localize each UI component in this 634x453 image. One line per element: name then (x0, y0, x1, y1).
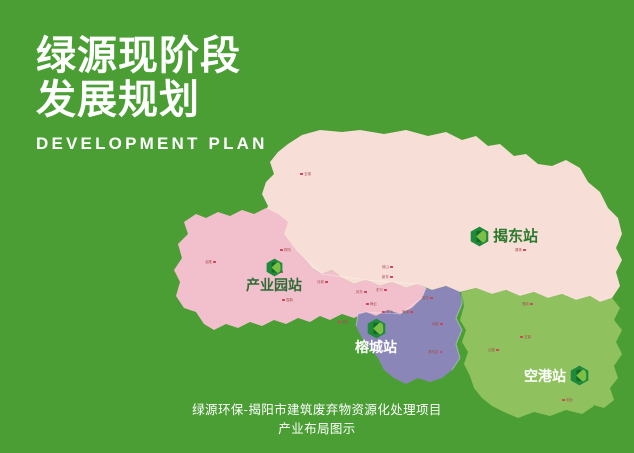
city-dot-label: 龙尾 (205, 260, 212, 264)
city-dot-label: 梅东 (342, 320, 349, 324)
city-dot-label: 登岗 (522, 302, 529, 306)
green-hex-logo-icon (367, 318, 386, 339)
city-dot-label: 新亨 (382, 275, 389, 279)
station-marker-airport[interactable]: 空港站 (524, 365, 589, 386)
city-dot: 揭东县 (428, 350, 442, 354)
city-dot: 渔湖 (402, 310, 413, 314)
city-dot: 玉湖 (300, 172, 311, 176)
city-dot-label: 东兴 (376, 288, 383, 292)
city-dot-point (496, 349, 499, 352)
city-dot: 地都 (432, 322, 443, 326)
city-dot-label: 梅云 (370, 302, 377, 306)
city-dot: 梅云 (366, 302, 377, 306)
city-dot-point (213, 261, 216, 264)
city-dot-point (440, 323, 443, 326)
city-dot-point (364, 291, 367, 294)
city-dot: 凤东 (356, 290, 367, 294)
city-dot-point (430, 297, 433, 300)
city-dot-label: 中山 (386, 310, 393, 314)
caption-line-1: 绿源环保-揭阳市建筑废弃物资源化处理项目 (0, 401, 634, 420)
city-dot-point (384, 289, 387, 292)
city-dot-label: 锡场 (515, 248, 522, 252)
caption-block: 绿源环保-揭阳市建筑废弃物资源化处理项目 产业布局图示 (0, 401, 634, 439)
city-dot-label: 地都 (432, 322, 439, 326)
city-dot-label: 月城 (317, 280, 324, 284)
city-dot-point (300, 173, 303, 176)
city-dot-point (410, 311, 413, 314)
city-dot-point (440, 351, 443, 354)
city-dot-label: 桐坑 (284, 248, 291, 252)
page-title-line-2: 发展规划 (36, 78, 376, 122)
city-dot: 月城 (317, 280, 328, 284)
city-dot: 云路 (488, 348, 499, 352)
city-dot: 玉窖 (520, 335, 531, 339)
green-hex-logo-icon (570, 365, 589, 386)
city-dot: 桐坑 (280, 248, 291, 252)
city-dot-point (530, 303, 533, 306)
city-dot-label: 云路 (488, 348, 495, 352)
city-dot-label: 玉湖 (304, 172, 311, 176)
city-dot-point (523, 249, 526, 252)
city-dot-label: 岐山 (382, 265, 389, 269)
city-dot: 登岗 (522, 302, 533, 306)
station-label: 空港站 (524, 369, 566, 383)
city-dot: 梅东 (338, 320, 349, 324)
city-dot-point (282, 299, 285, 302)
station-label: 揭东站 (493, 230, 538, 244)
city-dot-point (520, 336, 523, 339)
city-dot-point (390, 266, 393, 269)
green-hex-logo-icon (266, 258, 283, 277)
city-dot-point (382, 311, 385, 314)
city-dot-label: 凤东 (356, 290, 363, 294)
city-dot: 霞新 (282, 298, 293, 302)
city-dot: 龙尾 (205, 260, 216, 264)
city-dot: 中山 (382, 310, 393, 314)
city-dot-label: 揭东县 (428, 350, 438, 354)
poster-canvas: 绿源现阶段 发展规划 DEVELOPMENT PLAN 玉湖新亨锡场玉窖云路 (0, 0, 634, 453)
station-marker-industrial-park[interactable]: 产业园站 (246, 258, 302, 292)
city-dot-point (325, 281, 328, 284)
city-dot-point (390, 276, 393, 279)
city-dot-point (280, 249, 283, 252)
station-marker-jiedong[interactable]: 揭东站 (470, 226, 538, 247)
city-dot: 岐山 (382, 265, 393, 269)
page-title-line-1: 绿源现阶段 (36, 34, 376, 78)
station-label: 榕城站 (355, 340, 397, 354)
green-hex-logo-icon (470, 226, 489, 247)
city-dot-label: 渔湖 (402, 310, 409, 314)
city-dot-label: 玉窖 (524, 335, 531, 339)
city-dot: 新亨 (382, 275, 393, 279)
station-label: 产业园站 (246, 278, 302, 292)
city-dot-point (338, 321, 341, 324)
city-dot: 榕东 (422, 296, 433, 300)
caption-line-2: 产业布局图示 (0, 420, 634, 439)
city-dot-label: 榕东 (422, 296, 429, 300)
city-dot: 锡场 (515, 248, 526, 252)
city-dot-label: 霞新 (286, 298, 293, 302)
city-dot: 东兴 (376, 288, 387, 292)
station-marker-rongcheng[interactable]: 榕城站 (355, 318, 397, 354)
city-dot-point (366, 303, 369, 306)
